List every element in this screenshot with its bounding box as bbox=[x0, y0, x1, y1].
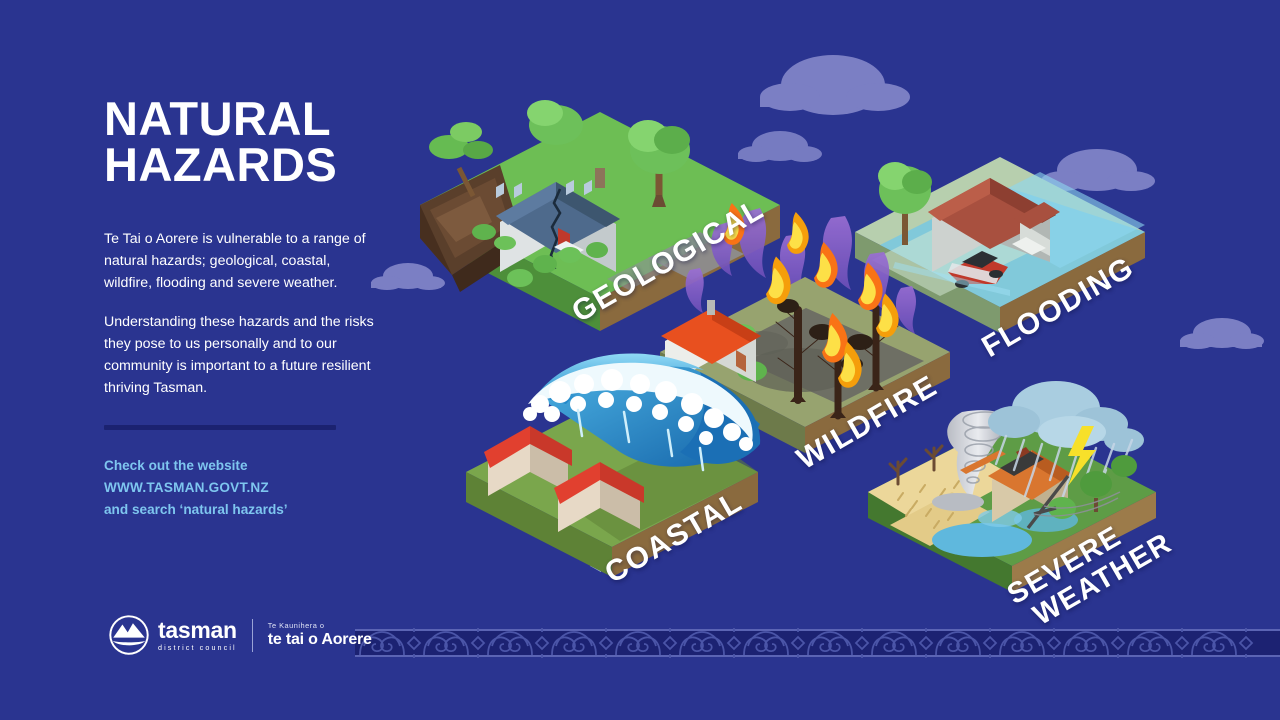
logo-maori-large: te tai o Aorere bbox=[268, 632, 372, 648]
logo-wordmark: tasman district council bbox=[158, 619, 237, 651]
logo-divider bbox=[252, 619, 253, 652]
logo-word-district-council: district council bbox=[158, 644, 237, 651]
poster-canvas: GEOLOGICAL FLOODING WILDFIRE COASTAL SEV… bbox=[0, 0, 1280, 720]
page-title-line1: NATURAL bbox=[104, 96, 374, 142]
page-title-line2: HAZARDS bbox=[104, 142, 374, 188]
intro-paragraph-2: Understanding these hazards and the risk… bbox=[104, 311, 374, 399]
logo-maori-small: Te Kaunihera o bbox=[268, 622, 372, 629]
logo-word-tasman: tasman bbox=[158, 619, 237, 642]
cta-line-3: and search ‘natural hazards’ bbox=[104, 499, 374, 521]
text-panel: NATURAL HAZARDS Te Tai o Aorere is vulne… bbox=[104, 96, 374, 521]
logo-maori-name: Te Kaunihera o te tai o Aorere bbox=[268, 622, 372, 648]
website-callout[interactable]: Check out the website WWW.TASMAN.GOVT.NZ… bbox=[104, 455, 374, 521]
divider-rule bbox=[104, 425, 336, 430]
cta-line-1: Check out the website bbox=[104, 455, 374, 477]
tasman-logo-mark-icon bbox=[108, 614, 150, 656]
cta-website-url[interactable]: WWW.TASMAN.GOVT.NZ bbox=[104, 477, 374, 499]
page-title: NATURAL HAZARDS bbox=[104, 96, 374, 188]
maori-border-band bbox=[355, 622, 1280, 664]
tasman-district-council-logo[interactable]: tasman district council Te Kaunihera o t… bbox=[108, 614, 372, 656]
intro-paragraph-1: Te Tai o Aorere is vulnerable to a range… bbox=[104, 228, 374, 294]
